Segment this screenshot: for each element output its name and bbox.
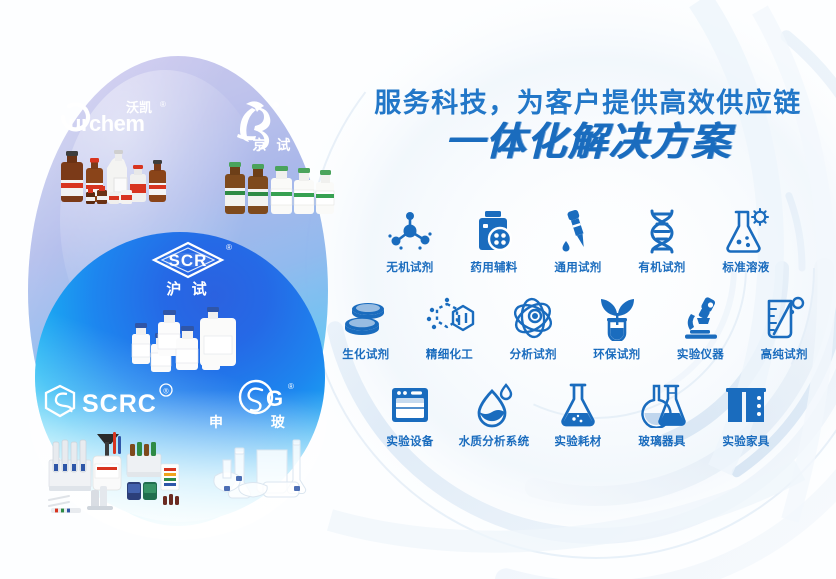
atom-icon (491, 293, 575, 343)
water-drop-icon (452, 380, 536, 430)
jingshi-logo-cn: 京 试 (253, 137, 294, 153)
category-lab-consumable[interactable]: 实验耗材 (536, 380, 620, 449)
ourchem-logo-latin: urchem (68, 111, 144, 136)
petri-dish-icon (324, 293, 408, 343)
graduated-cylinder-icon (742, 293, 826, 343)
brand-ourchem[interactable]: 沃凯 ® urchem (40, 96, 190, 220)
scr-trademark: ® (226, 243, 232, 252)
headline-line-1: 服务科技，为客户提供高效供应链 (362, 88, 814, 119)
shenbo-logo-cn: 申 玻 (209, 414, 307, 430)
erlenmeyer-flask-icon (536, 380, 620, 430)
ourchem-trademark: ® (160, 100, 166, 109)
glassware-icon (620, 380, 704, 430)
category-label: 标准溶液 (704, 259, 788, 275)
scrc-logo-icon: SCRC ® (38, 378, 188, 424)
banner-stage: 沃凯 ® urchem (0, 0, 836, 579)
category-label: 药用辅料 (452, 259, 536, 275)
jingshi-product-photo (221, 154, 336, 224)
brand-scr-hushi[interactable]: SCR ® 沪 试 (118, 238, 263, 380)
category-label: 水质分析系统 (452, 433, 536, 449)
category-label: 高纯试剂 (742, 346, 826, 362)
plant-tube-icon (575, 293, 659, 343)
category-icon-grid: 无机试剂 药用辅料 (330, 206, 826, 467)
jingshi-logo-icon: ® 京 试 (208, 92, 338, 154)
category-row-3: 实验设备 水质分析系统 (330, 380, 826, 449)
category-general-reagent[interactable]: 通用试剂 (536, 206, 620, 275)
category-label: 无机试剂 (368, 259, 452, 275)
microscope-icon (659, 293, 743, 343)
category-label: 生化试剂 (324, 346, 408, 362)
category-lab-furniture[interactable]: 实验家具 (704, 380, 788, 449)
category-row-1: 无机试剂 药用辅料 (330, 206, 826, 275)
category-label: 实验家具 (704, 433, 788, 449)
benzene-ring-icon (408, 293, 492, 343)
category-label: 实验仪器 (659, 346, 743, 362)
category-label: 实验耗材 (536, 433, 620, 449)
scrc-trademark: ® (163, 388, 169, 396)
dropper-icon (536, 206, 620, 256)
shenbo-logo-icon: G ® 申 玻 (200, 378, 330, 430)
brand-jingshi[interactable]: ® 京 试 (208, 92, 348, 224)
ourchem-product-photo (55, 140, 175, 220)
category-lab-equipment[interactable]: 实验设备 (368, 380, 452, 449)
svg-text:G: G (266, 386, 283, 411)
flask-gear-icon (704, 206, 788, 256)
pill-bottle-icon (452, 206, 536, 256)
category-label: 实验设备 (368, 433, 452, 449)
shenbo-product-photo (205, 430, 330, 515)
jingshi-trademark: ® (286, 98, 292, 107)
category-label: 玻璃器具 (620, 433, 704, 449)
category-label: 通用试剂 (536, 259, 620, 275)
scrc-logo-latin: SCRC (82, 390, 157, 418)
scr-product-photo (126, 300, 256, 380)
category-organic-reagent[interactable]: 有机试剂 (620, 206, 704, 275)
category-label: 分析试剂 (491, 346, 575, 362)
category-label: 环保试剂 (575, 346, 659, 362)
category-analytical-reagent[interactable]: 分析试剂 (491, 293, 575, 362)
scr-logo-latin: SCR (169, 251, 208, 270)
headline-line-2: 一体化解决方案 (362, 121, 814, 165)
scr-logo-cn: 沪 试 (166, 280, 209, 298)
category-lab-instrument[interactable]: 实验仪器 (659, 293, 743, 362)
brand-shenbo[interactable]: G ® 申 玻 (200, 378, 335, 515)
dna-icon (620, 206, 704, 256)
scrc-product-photo (43, 424, 193, 514)
scr-logo-icon: SCR ® 沪 试 (118, 238, 258, 300)
category-glassware[interactable]: 玻璃器具 (620, 380, 704, 449)
category-high-purity-reagent[interactable]: 高纯试剂 (742, 293, 826, 362)
oven-icon (368, 380, 452, 430)
lab-desk-icon (704, 380, 788, 430)
category-fine-chemical[interactable]: 精细化工 (408, 293, 492, 362)
category-environmental-reagent[interactable]: 环保试剂 (575, 293, 659, 362)
shenbo-trademark: ® (288, 382, 294, 391)
category-water-analysis-system[interactable]: 水质分析系统 (452, 380, 536, 449)
category-label: 有机试剂 (620, 259, 704, 275)
category-inorganic-reagent[interactable]: 无机试剂 (368, 206, 452, 275)
molecule-icon (368, 206, 452, 256)
category-row-2: 生化试剂 精细化工 (324, 293, 826, 362)
ourchem-logo-icon: 沃凯 ® urchem (40, 96, 180, 140)
category-label: 精细化工 (408, 346, 492, 362)
category-pharma-excipient[interactable]: 药用辅料 (452, 206, 536, 275)
category-standard-solution[interactable]: 标准溶液 (704, 206, 788, 275)
category-biochemical-reagent[interactable]: 生化试剂 (324, 293, 408, 362)
brand-scrc[interactable]: SCRC ® (38, 378, 198, 514)
headline-block: 服务科技，为客户提供高效供应链 一体化解决方案 (362, 88, 814, 165)
